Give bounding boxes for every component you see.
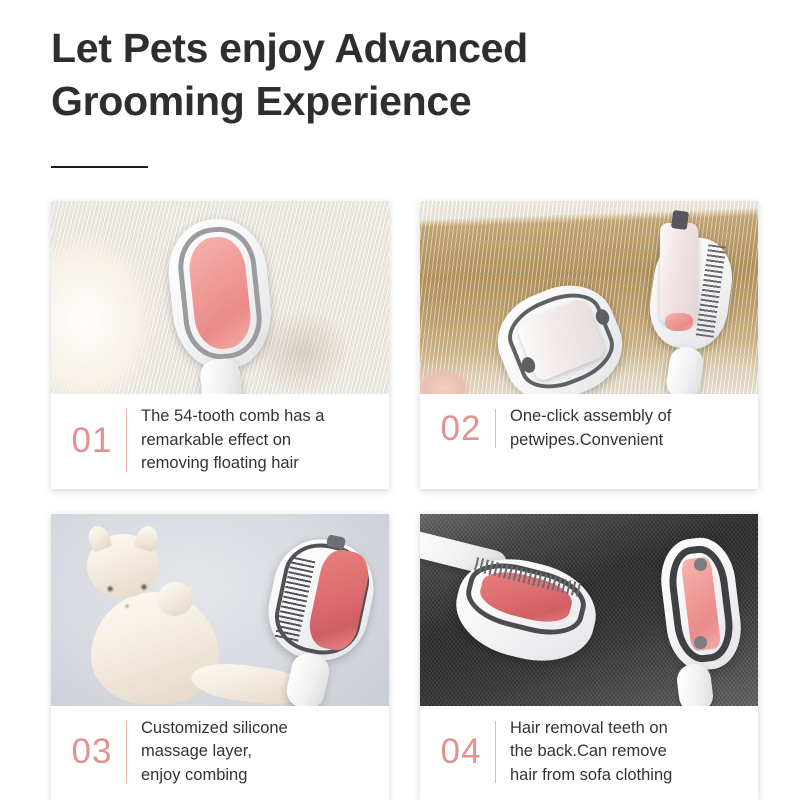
feature-text-01: The 54-tooth comb has a remarkable effec… xyxy=(141,405,375,476)
title-underline-rule xyxy=(51,166,148,168)
feature-number-01: 01 xyxy=(60,423,124,458)
caption-divider xyxy=(495,721,496,784)
back-screw-bottom xyxy=(694,636,707,649)
feature-image-04 xyxy=(420,514,758,706)
feature-caption-02: 02 One-click assembly of petwipes.Conven… xyxy=(420,394,758,465)
loose-hair-overlay xyxy=(51,201,389,394)
feature-card-04[interactable]: 04 Hair removal teeth on the back.Can re… xyxy=(420,514,758,800)
feature-text-04: Hair removal teeth on the back.Can remov… xyxy=(510,717,744,788)
back-screw-top xyxy=(694,558,707,571)
page-title: Let Pets enjoy Advanced Grooming Experie… xyxy=(51,22,751,128)
feature-caption-04: 04 Hair removal teeth on the back.Can re… xyxy=(420,706,758,800)
feature-caption-03: 03 Customized silicone massage layer, en… xyxy=(51,706,389,800)
feature-image-03 xyxy=(51,514,389,706)
feature-number-02: 02 xyxy=(429,411,493,446)
feature-image-02 xyxy=(420,201,758,394)
caption-divider xyxy=(495,409,496,448)
feature-number-03: 03 xyxy=(60,734,124,769)
feature-card-02[interactable]: 02 One-click assembly of petwipes.Conven… xyxy=(420,201,758,489)
feature-text-03: Customized silicone massage layer, enjoy… xyxy=(141,717,375,788)
feature-card-01[interactable]: 01 The 54-tooth comb has a remarkable ef… xyxy=(51,201,389,489)
page-header: Let Pets enjoy Advanced Grooming Experie… xyxy=(51,22,751,128)
feature-card-grid: 01 The 54-tooth comb has a remarkable ef… xyxy=(51,201,758,800)
feature-image-01 xyxy=(51,201,389,394)
feature-number-04: 04 xyxy=(429,734,493,769)
caption-divider xyxy=(126,409,127,472)
hand-thumb xyxy=(420,201,758,394)
feature-text-02: One-click assembly of petwipes.Convenien… xyxy=(510,405,744,452)
caption-divider xyxy=(126,721,127,784)
feature-caption-01: 01 The 54-tooth comb has a remarkable ef… xyxy=(51,394,389,489)
feature-card-03[interactable]: 03 Customized silicone massage layer, en… xyxy=(51,514,389,800)
